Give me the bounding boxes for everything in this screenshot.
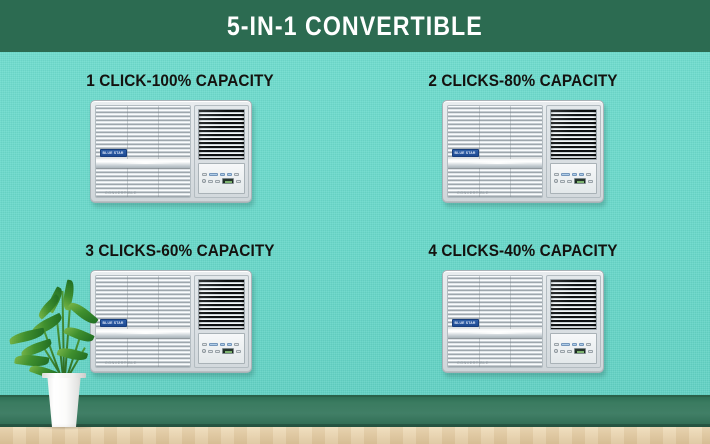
- control-button[interactable]: [554, 343, 559, 347]
- panel-model-mark: CONVERTIBLE: [457, 361, 489, 365]
- ac-ventilation-grille: [198, 109, 245, 160]
- control-button[interactable]: [561, 173, 570, 177]
- ac-side-column: [194, 105, 249, 198]
- ac-body: BLUE STAR CONVERTIBLE: [442, 270, 604, 373]
- control-button[interactable]: [561, 343, 570, 347]
- ac-ventilation-grille: [198, 279, 245, 330]
- brand-logo-badge: BLUE STAR: [100, 149, 127, 157]
- control-button[interactable]: [567, 180, 572, 184]
- ac-side-column: [546, 275, 601, 368]
- ac-body: BLUE STAR CONVERTIBLE: [90, 100, 252, 203]
- ac-front-louver-panel: BLUE STAR CONVERTIBLE: [95, 275, 191, 368]
- plant-pot-rim: [42, 373, 86, 378]
- ac-front-louver-panel: BLUE STAR CONVERTIBLE: [95, 105, 191, 198]
- brand-logo-text: BLUE STAR: [103, 151, 124, 155]
- ac-front-louver-panel: BLUE STAR CONVERTIBLE: [447, 275, 543, 368]
- header-banner: 5-IN-1 CONVERTIBLE: [0, 0, 710, 52]
- panel-model-mark: CONVERTIBLE: [105, 191, 137, 195]
- control-button[interactable]: [234, 173, 239, 177]
- control-knob[interactable]: [202, 179, 206, 183]
- control-knob[interactable]: [554, 179, 558, 183]
- control-button[interactable]: [236, 350, 241, 354]
- wall-baseboard: [0, 395, 710, 427]
- ac-side-column: [194, 275, 249, 368]
- control-button[interactable]: [554, 173, 559, 177]
- control-button[interactable]: [209, 173, 218, 177]
- potted-plant: [6, 285, 106, 427]
- led-display: [574, 178, 586, 184]
- control-button[interactable]: [209, 343, 218, 347]
- control-button[interactable]: [220, 173, 225, 177]
- ac-air-deflector: [448, 159, 542, 168]
- brand-logo-badge: BLUE STAR: [452, 149, 479, 157]
- ac-front-louver-panel: BLUE STAR CONVERTIBLE: [447, 105, 543, 198]
- control-button[interactable]: [586, 343, 591, 347]
- control-button[interactable]: [579, 173, 584, 177]
- capacity-label-1: 1 CLICK-100% CAPACITY: [31, 72, 329, 91]
- control-button[interactable]: [579, 343, 584, 347]
- led-display: [574, 348, 586, 354]
- ac-control-panel[interactable]: [550, 163, 597, 194]
- control-button[interactable]: [215, 180, 220, 184]
- brand-logo-text: BLUE STAR: [455, 321, 476, 325]
- ac-control-panel[interactable]: [550, 333, 597, 364]
- capacity-label-4: 4 CLICKS-40% CAPACITY: [374, 242, 672, 261]
- control-button[interactable]: [560, 350, 565, 354]
- control-button[interactable]: [208, 180, 213, 184]
- ac-ventilation-grille: [550, 279, 597, 330]
- control-knob[interactable]: [554, 349, 558, 353]
- control-button[interactable]: [572, 173, 577, 177]
- brand-logo-badge: BLUE STAR: [452, 319, 479, 327]
- ac-control-panel[interactable]: [198, 333, 245, 364]
- control-button[interactable]: [208, 350, 213, 354]
- ac-control-panel[interactable]: [198, 163, 245, 194]
- ac-unit-1[interactable]: BLUE STAR CONVERTIBLE: [90, 100, 252, 203]
- ac-body: BLUE STAR CONVERTIBLE: [90, 270, 252, 373]
- control-button[interactable]: [588, 350, 593, 354]
- brand-logo-text: BLUE STAR: [455, 151, 476, 155]
- control-button[interactable]: [202, 173, 207, 177]
- control-button[interactable]: [560, 180, 565, 184]
- ac-air-deflector: [96, 329, 190, 338]
- capacity-label-2: 2 CLICKS-80% CAPACITY: [374, 72, 672, 91]
- ac-unit-2[interactable]: BLUE STAR CONVERTIBLE: [442, 100, 604, 203]
- page-title: 5-IN-1 CONVERTIBLE: [227, 11, 483, 42]
- control-button[interactable]: [586, 173, 591, 177]
- control-button[interactable]: [202, 343, 207, 347]
- ac-air-deflector: [448, 329, 542, 338]
- panel-model-mark: CONVERTIBLE: [105, 361, 137, 365]
- ac-side-column: [546, 105, 601, 198]
- plant-pot: [44, 375, 84, 427]
- ac-air-deflector: [96, 159, 190, 168]
- control-knob[interactable]: [202, 349, 206, 353]
- plant-leaf: [63, 324, 94, 345]
- capacity-label-3: 3 CLICKS-60% CAPACITY: [31, 242, 329, 261]
- ac-body: BLUE STAR CONVERTIBLE: [442, 100, 604, 203]
- plant-leaf: [68, 299, 99, 327]
- led-display: [222, 178, 234, 184]
- panel-model-mark: CONVERTIBLE: [457, 191, 489, 195]
- ac-unit-3[interactable]: BLUE STAR CONVERTIBLE: [90, 270, 252, 373]
- control-button[interactable]: [220, 343, 225, 347]
- control-button[interactable]: [234, 343, 239, 347]
- control-button[interactable]: [588, 180, 593, 184]
- control-button[interactable]: [572, 343, 577, 347]
- control-button[interactable]: [236, 180, 241, 184]
- control-button[interactable]: [227, 173, 232, 177]
- control-button[interactable]: [567, 350, 572, 354]
- room-floor: [0, 427, 710, 444]
- ac-unit-4[interactable]: BLUE STAR CONVERTIBLE: [442, 270, 604, 373]
- control-button[interactable]: [215, 350, 220, 354]
- control-button[interactable]: [227, 343, 232, 347]
- brand-logo-text: BLUE STAR: [103, 321, 124, 325]
- ac-ventilation-grille: [550, 109, 597, 160]
- led-display: [222, 348, 234, 354]
